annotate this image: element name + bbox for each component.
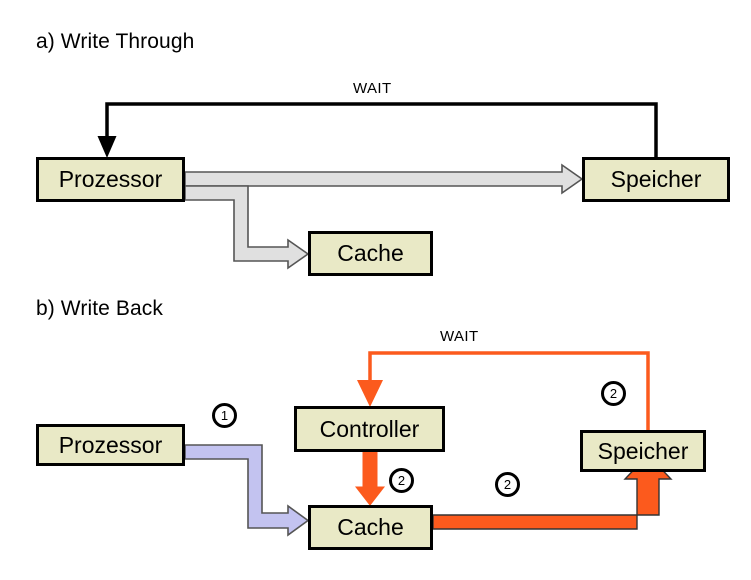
edge-label-wait-a: WAIT xyxy=(353,80,392,97)
node-cache-a-label: Cache xyxy=(337,240,403,267)
diagram-root: a) Write Through WAIT Prozessor Cache Sp… xyxy=(0,0,751,580)
edge-label-wait-b: WAIT xyxy=(440,328,479,345)
edge-prozessor-to-cache-b xyxy=(185,445,308,535)
node-controller-b-label: Controller xyxy=(320,416,420,443)
node-prozessor-b-label: Prozessor xyxy=(59,432,163,459)
node-cache-b[interactable]: Cache xyxy=(308,505,433,550)
node-prozessor-a[interactable]: Prozessor xyxy=(36,157,185,202)
node-prozessor-b[interactable]: Prozessor xyxy=(36,424,185,466)
step-badge-2-cache-speicher: 2 xyxy=(495,472,520,497)
step-badge-2-wait: 2 xyxy=(601,381,626,406)
node-speicher-b[interactable]: Speicher xyxy=(580,430,706,472)
edge-controller-to-cache-b xyxy=(356,452,384,505)
node-controller-b[interactable]: Controller xyxy=(294,406,445,452)
node-cache-b-label: Cache xyxy=(337,514,403,541)
node-speicher-a[interactable]: Speicher xyxy=(582,157,730,202)
node-speicher-a-label: Speicher xyxy=(611,166,702,193)
step-badge-2-controller-cache: 2 xyxy=(389,468,414,493)
node-cache-a[interactable]: Cache xyxy=(308,231,433,276)
step-badge-1-prozessor-cache: 1 xyxy=(212,403,237,428)
node-speicher-b-label: Speicher xyxy=(598,438,689,465)
node-prozessor-a-label: Prozessor xyxy=(59,166,163,193)
